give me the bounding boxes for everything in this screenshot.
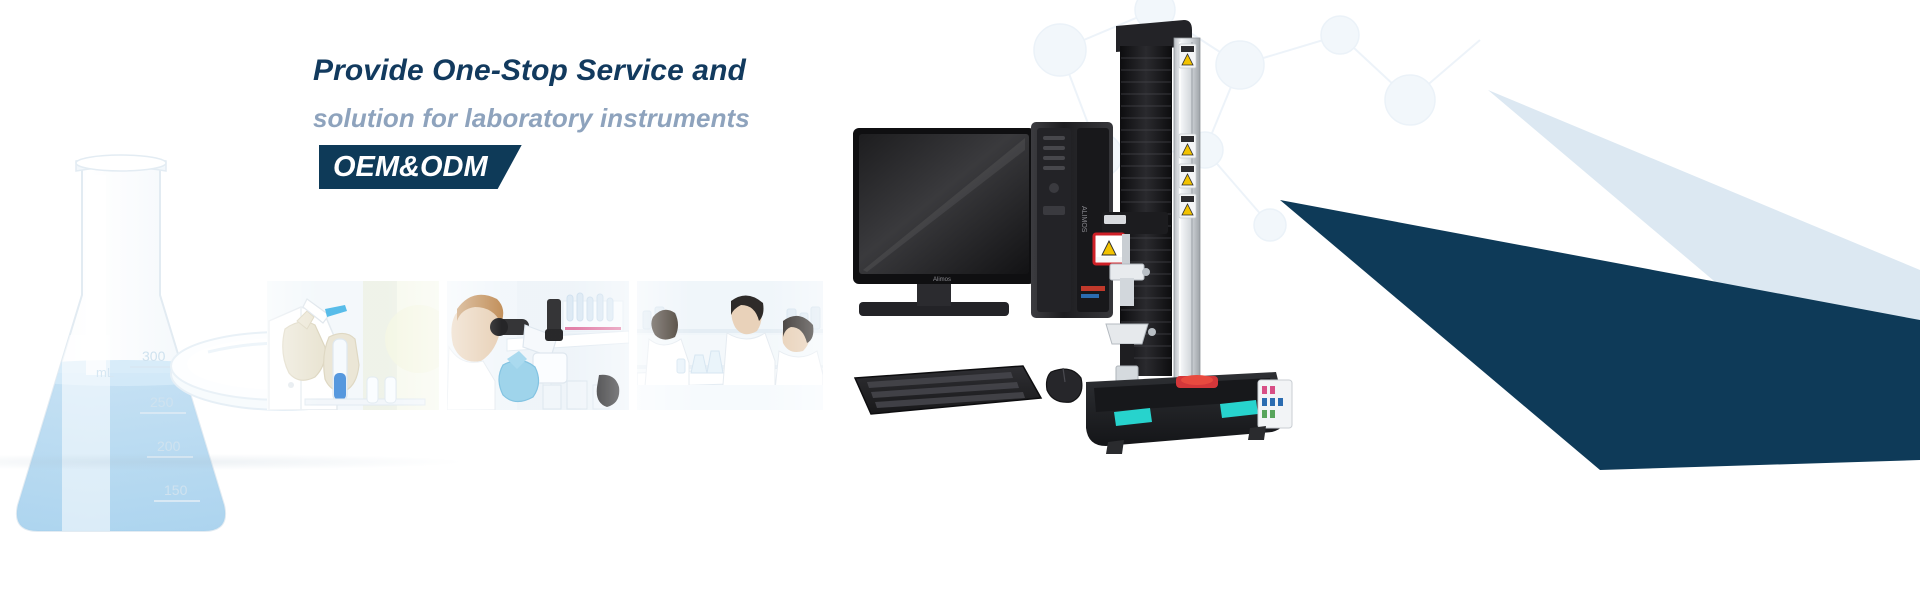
svg-text:Alimos: Alimos <box>933 277 951 283</box>
universal-tensile-testing-machine <box>1080 8 1300 468</box>
lab-photo-strip <box>267 281 823 410</box>
machine-base <box>1086 372 1292 454</box>
mouse <box>1047 368 1082 402</box>
keyboard <box>855 366 1041 414</box>
svg-text:300: 300 <box>142 348 166 364</box>
light-blue-wedge <box>1488 90 1920 455</box>
promo-banner: 300 250 200 150 mL Provide One-Stop Serv… <box>0 0 1920 597</box>
svg-text:mL: mL <box>96 365 114 380</box>
lab-photo-microscope <box>447 281 629 410</box>
oem-odm-badge: OEM&ODM <box>319 145 522 189</box>
lab-photo-pipetting <box>267 281 439 410</box>
lab-photo-laboratory <box>637 281 823 410</box>
navy-arrow-wedge <box>1280 200 1920 470</box>
desktop-monitor: Alimos <box>853 128 1035 316</box>
svg-text:200: 200 <box>157 438 181 454</box>
svg-text:150: 150 <box>164 482 188 498</box>
